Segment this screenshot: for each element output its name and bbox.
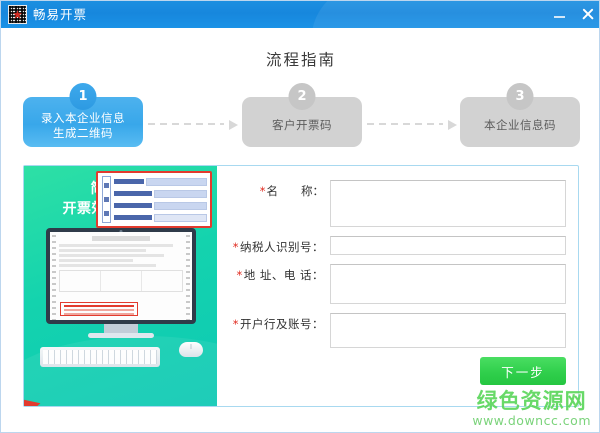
monitor-base: [88, 333, 154, 338]
content-panel: 简单易用 开票效率明显提升: [23, 165, 579, 407]
close-icon[interactable]: [580, 7, 595, 22]
window-controls: [552, 1, 595, 28]
promo-banner: 简单易用 开票效率明显提升: [24, 166, 217, 406]
mouse-icon: [179, 342, 203, 357]
form-row-company-name: *名 称：: [217, 180, 566, 227]
required-marker: *: [260, 184, 266, 198]
arrow-right-icon: [229, 120, 238, 130]
label-address-phone: *地 址、电 话：: [217, 264, 330, 283]
arrow-right-icon: [448, 120, 457, 130]
company-name-input[interactable]: [330, 180, 566, 227]
minimize-icon[interactable]: [552, 7, 567, 22]
bank-account-input[interactable]: [330, 313, 566, 348]
label-company-name: *名 称：: [217, 180, 330, 199]
label-taxpayer-id: *纳税人识别号：: [217, 236, 330, 255]
form-row-taxpayer-id: *纳税人识别号：: [217, 236, 566, 255]
taxpayer-id-input[interactable]: [330, 236, 566, 255]
step-1-label-line1: 录入本企业信息: [41, 111, 125, 126]
watermark-url: www.downcc.com: [472, 413, 591, 428]
form-row-bank-account: *开户行及账号：: [217, 313, 566, 348]
callout-pointer-icon: [24, 397, 40, 406]
qr-code-icon: [8, 5, 27, 24]
required-marker: *: [233, 317, 239, 331]
step-2-customer-invoice-code[interactable]: 2 客户开票码: [242, 97, 362, 147]
keyboard-icon: [40, 347, 160, 367]
app-title: 畅易开票: [33, 5, 87, 24]
step-1-label-line2: 生成二维码: [41, 126, 125, 141]
app-window: 畅易开票 流程指南 1 录入本企业信息 生成二维码 2 客户开票码: [0, 0, 600, 433]
step-1-enter-company-info[interactable]: 1 录入本企业信息 生成二维码: [23, 97, 143, 147]
step-3-number: 3: [507, 83, 534, 110]
title-bar: 畅易开票: [1, 1, 600, 28]
step-connector-2: [367, 120, 457, 128]
step-3-company-info-code[interactable]: 3 本企业信息码: [460, 97, 580, 147]
step-3-label-line1: 本企业信息码: [484, 118, 556, 133]
monitor-illustration-icon: [46, 228, 196, 324]
step-indicator: 1 录入本企业信息 生成二维码 2 客户开票码 3 本企业信息码: [1, 83, 600, 149]
step-connector-1: [148, 120, 238, 128]
step-1-number: 1: [70, 83, 97, 110]
step-2-number: 2: [289, 83, 316, 110]
step-2-label-line1: 客户开票码: [272, 118, 332, 133]
next-step-button[interactable]: 下一步: [480, 357, 566, 385]
invoice-fields-callout: [96, 171, 212, 228]
page-title: 流程指南: [1, 48, 600, 70]
company-info-form: *名 称： *纳税人识别号： *地 址、电 话： *开户行及账号： 下一步: [217, 166, 578, 406]
form-actions: 下一步: [217, 357, 566, 385]
required-marker: *: [236, 268, 242, 282]
address-phone-input[interactable]: [330, 264, 566, 304]
form-row-address-phone: *地 址、电 话：: [217, 264, 566, 304]
label-bank-account: *开户行及账号：: [217, 313, 330, 332]
required-marker: *: [233, 240, 239, 254]
